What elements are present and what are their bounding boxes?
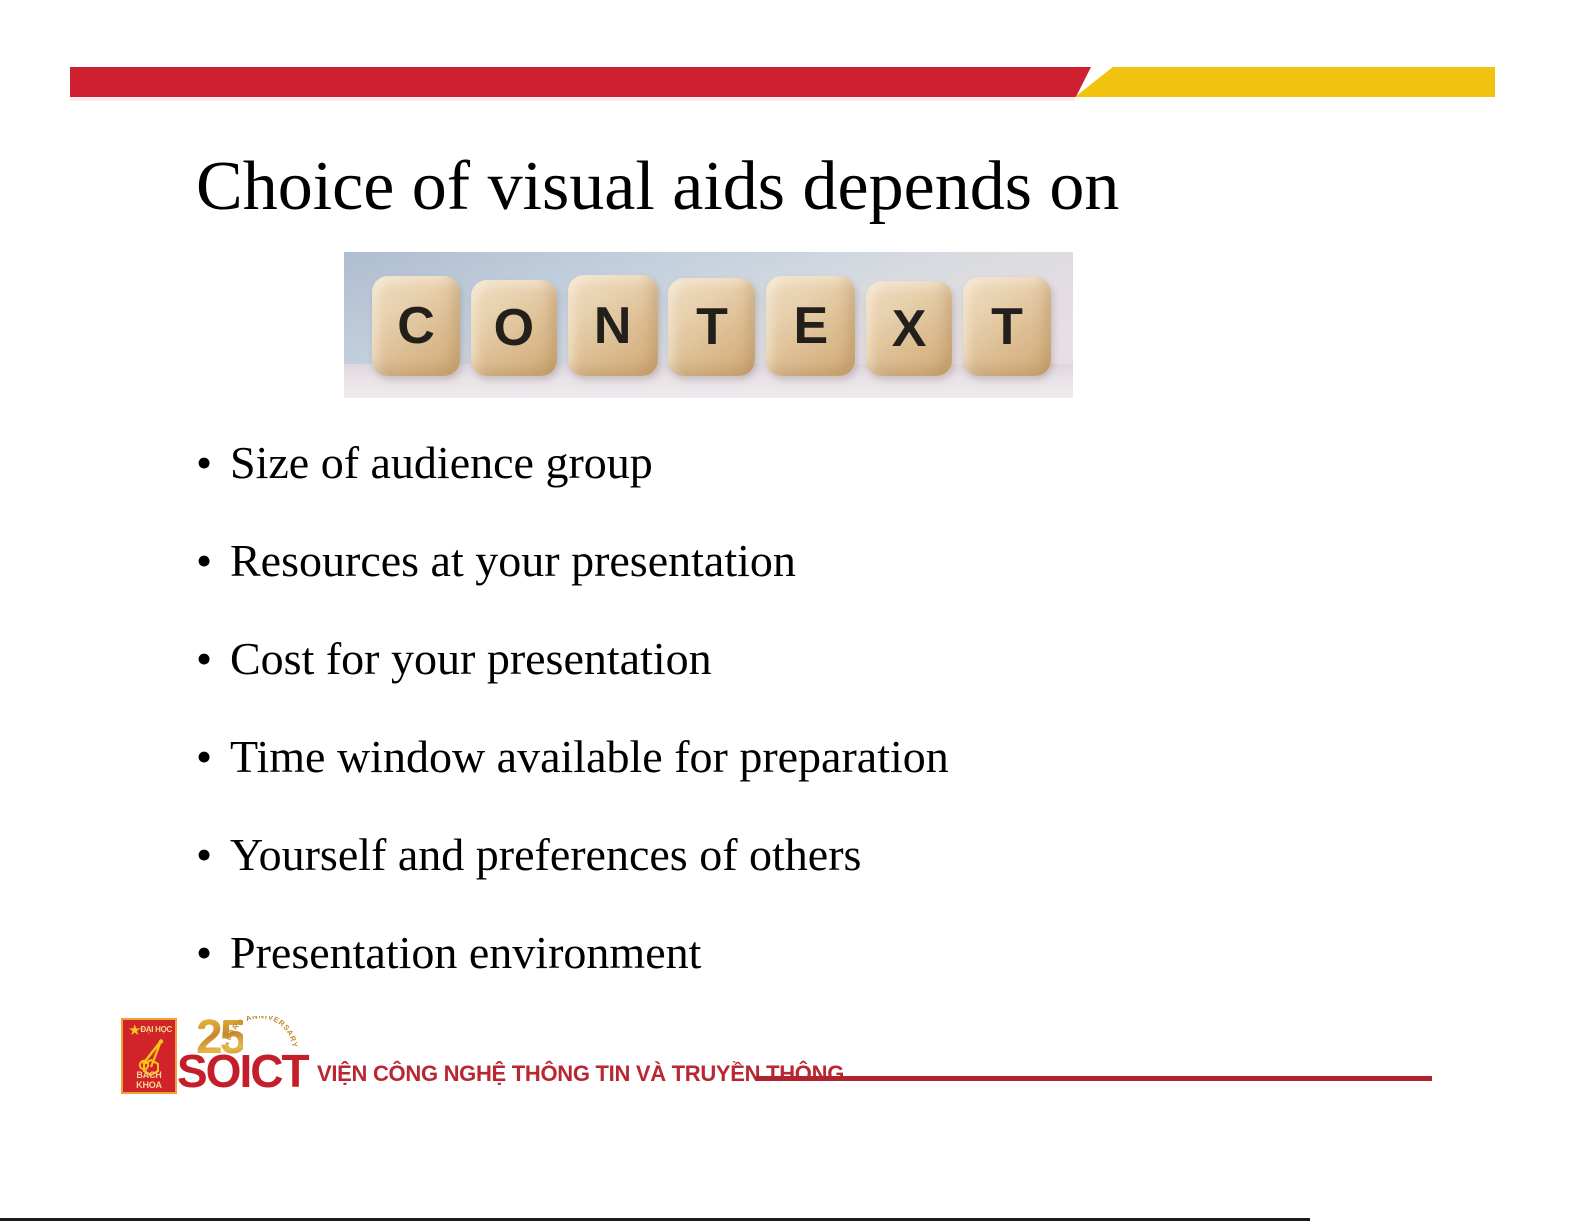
bullet-marker-icon: • <box>196 538 230 584</box>
svg-text:YEARS ANNIVERSARY: YEARS ANNIVERSARY <box>226 1016 299 1048</box>
hust-logo-bottom-text: BÁCH KHOA <box>123 1070 175 1090</box>
header-bar-red-segment <box>70 67 1075 97</box>
bullet-list: • Size of audience group • Resources at … <box>196 440 1396 1028</box>
footer-divider-line <box>756 1076 1432 1081</box>
list-item-label: Presentation environment <box>230 930 701 976</box>
list-item: • Cost for your presentation <box>196 636 1396 734</box>
list-item-label: Cost for your presentation <box>230 636 712 682</box>
list-item: • Size of audience group <box>196 440 1396 538</box>
list-item-label: Size of audience group <box>230 440 653 486</box>
list-item: • Yourself and preferences of others <box>196 832 1396 930</box>
slide: Choice of visual aids depends on C O N T… <box>0 0 1585 1225</box>
list-item-label: Yourself and preferences of others <box>230 832 861 878</box>
header-bar-shadow <box>70 97 1075 101</box>
list-item: • Resources at your presentation <box>196 538 1396 636</box>
bullet-marker-icon: • <box>196 930 230 976</box>
context-blocks-image: C O N T E X T <box>344 252 1073 398</box>
institute-name-label: VIỆN CÔNG NGHỆ THÔNG TIN VÀ TRUYỀN THÔNG <box>317 1061 844 1087</box>
wooden-block-letter: X <box>866 281 952 376</box>
slide-title: Choice of visual aids depends on <box>196 152 1316 222</box>
wooden-block-letter: T <box>963 277 1051 376</box>
bullet-marker-icon: • <box>196 440 230 486</box>
bullet-marker-icon: • <box>196 734 230 780</box>
soict-brand-logo: SOICT <box>177 1048 308 1094</box>
hust-university-logo: ★ ĐẠI HỌC BÁCH KHOA <box>121 1018 177 1094</box>
star-icon: ★ <box>128 1025 141 1038</box>
wooden-block-letter: C <box>372 276 460 376</box>
wooden-block-letter: T <box>668 278 755 376</box>
list-item: • Presentation environment <box>196 930 1396 1028</box>
header-bar-yellow-segment <box>1075 67 1495 97</box>
hust-logo-top-text: ĐẠI HỌC <box>140 1025 172 1034</box>
slide-bottom-border <box>0 1218 1310 1221</box>
wooden-block-letter: N <box>568 275 658 376</box>
header-accent-bar <box>70 67 1495 97</box>
context-blocks-row: C O N T E X T <box>372 272 1051 376</box>
list-item-label: Time window available for preparation <box>230 734 949 780</box>
wooden-block-letter: O <box>471 280 557 376</box>
bullet-marker-icon: • <box>196 832 230 878</box>
list-item: • Time window available for preparation <box>196 734 1396 832</box>
list-item-label: Resources at your presentation <box>230 538 796 584</box>
bullet-marker-icon: • <box>196 636 230 682</box>
wooden-block-letter: E <box>766 276 855 376</box>
